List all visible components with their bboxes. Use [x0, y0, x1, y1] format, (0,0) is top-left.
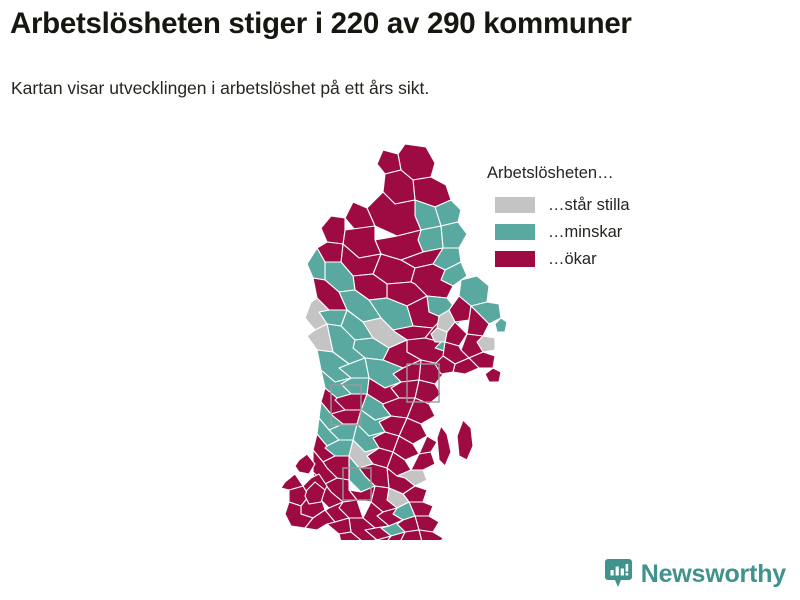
legend-label-decreasing: …minskar — [548, 222, 622, 242]
municipality-shape — [437, 426, 451, 466]
sweden-choropleth-map — [255, 130, 515, 540]
municipality-shape — [321, 216, 345, 244]
legend-title: Arbetslösheten… — [487, 163, 697, 183]
municipality-shape — [419, 530, 443, 540]
legend-item-decreasing: …minskar — [487, 218, 697, 245]
legend-item-unchanged: …står stilla — [487, 191, 697, 218]
map-municipalities — [281, 144, 507, 540]
legend-label-increasing: …ökar — [548, 249, 597, 269]
municipality-shape — [457, 420, 473, 460]
legend-swatch-decreasing — [495, 224, 535, 240]
legend: Arbetslösheten… …står stilla …minskar …ö… — [487, 163, 697, 272]
municipality-shape — [441, 222, 467, 248]
legend-swatch-unchanged — [495, 197, 535, 213]
page-title: Arbetslösheten stiger i 220 av 290 kommu… — [10, 6, 790, 42]
municipality-shape — [485, 368, 501, 382]
legend-label-unchanged: …står stilla — [548, 195, 630, 215]
legend-swatch-increasing — [495, 251, 535, 267]
newsworthy-wordmark: Newsworthy — [641, 561, 786, 587]
page-subtitle: Kartan visar utvecklingen i arbetslöshet… — [11, 76, 791, 100]
newsworthy-mark-icon — [605, 559, 632, 588]
municipality-shape — [295, 454, 315, 474]
legend-item-increasing: …ökar — [487, 245, 697, 272]
map-svg — [255, 130, 515, 540]
newsworthy-logo: Newsworthy — [605, 559, 786, 588]
infographic-page: Arbetslösheten stiger i 220 av 290 kommu… — [0, 0, 800, 600]
